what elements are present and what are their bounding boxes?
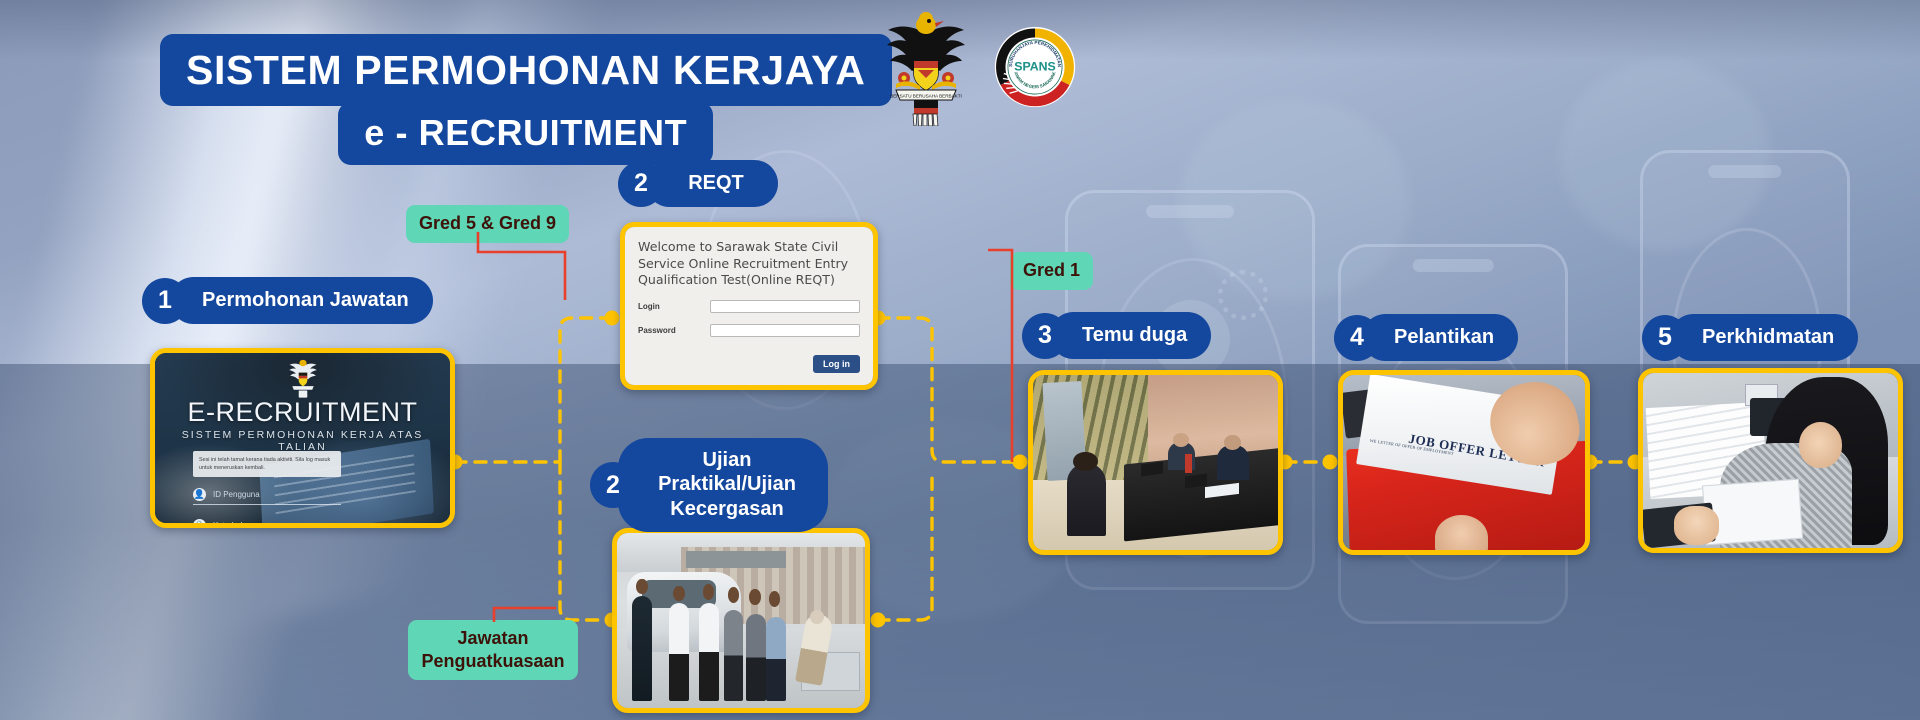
svg-text:SPANS: SPANS: [1014, 59, 1055, 73]
step-3-label: Temu duga: [1050, 312, 1211, 359]
step-3-temu-duga[interactable]: 3 Temu duga: [1022, 312, 1211, 359]
spans-logo: SURUHANJAYA PERKHIDMATAN AWAM NEGERI SAR…: [994, 26, 1076, 108]
step-2-label: REQT: [646, 160, 778, 207]
card-practical-test-photo[interactable]: [612, 528, 870, 713]
erecruitment-password-field[interactable]: 🔒 Kata Laluan: [193, 516, 341, 523]
practical-test-photo: [617, 533, 865, 708]
step-4-pelantikan[interactable]: 4 Pelantikan: [1334, 314, 1518, 361]
background-gear-icon: [1218, 270, 1268, 320]
page-title: SISTEM PERMOHONAN KERJAYA e - RECRUITMEN…: [160, 34, 892, 165]
step-5-number: 5: [1642, 315, 1688, 361]
step-5-perkhidmatan[interactable]: 5 Perkhidmatan: [1642, 314, 1858, 361]
card-service-photo[interactable]: [1638, 368, 1903, 553]
reqt-button-row: Log in: [638, 355, 860, 373]
tag-gred-1: Gred 1: [1010, 252, 1093, 290]
step-2b-number: 2: [590, 462, 636, 508]
offer-letter-photo: WE LETTER OF OFFER OF EMPLOYMENT JOB OFF…: [1343, 375, 1585, 550]
title-line-2: e - RECRUITMENT: [338, 102, 713, 165]
erecruitment-screen: E-RECRUITMENT SISTEM PERMOHONAN KERJA AT…: [155, 353, 450, 523]
reqt-welcome-text: Welcome to Sarawak State Civil Service O…: [638, 239, 860, 289]
erecruitment-password-placeholder: Kata Laluan: [213, 521, 256, 523]
step-1-number: 1: [142, 278, 188, 324]
reqt-login-label: Login: [638, 302, 710, 311]
erecruitment-subtitle: SISTEM PERMOHONAN KERJA ATAS TALIAN: [155, 429, 450, 453]
reqt-login-form: Welcome to Sarawak State Civil Service O…: [625, 227, 873, 385]
step-2-reqt[interactable]: 2 REQT: [618, 160, 778, 207]
card-reqt-login[interactable]: Welcome to Sarawak State Civil Service O…: [620, 222, 878, 390]
card-interview-photo[interactable]: [1028, 370, 1283, 555]
service-photo: [1643, 373, 1898, 548]
logo-group: BERSATU BERUSAHA BERBAKTI: [880, 8, 1076, 126]
tag-gred-5-9: Gred 5 & Gred 9: [406, 205, 569, 243]
title-line-1: SISTEM PERMOHONAN KERJAYA: [160, 34, 892, 106]
reqt-login-row: Login: [638, 300, 860, 313]
step-1-permohonan-jawatan[interactable]: 1 Permohonan Jawatan: [142, 277, 433, 324]
step-2-number: 2: [618, 161, 664, 207]
reqt-password-label: Password: [638, 326, 710, 335]
erecruitment-crest-icon: [283, 357, 323, 399]
erecruitment-session-notice: Sesi ini telah tamat kerana tiada aktivi…: [193, 451, 341, 477]
step-2b-label: Ujian Praktikal/Ujian Kecergasan: [618, 438, 828, 532]
user-icon: 👤: [193, 488, 206, 501]
step-4-label: Pelantikan: [1362, 314, 1518, 361]
card-offer-letter-photo[interactable]: WE LETTER OF OFFER OF EMPLOYMENT JOB OFF…: [1338, 370, 1590, 555]
reqt-password-row: Password: [638, 324, 860, 337]
step-2b-ujian-praktikal[interactable]: 2 Ujian Praktikal/Ujian Kecergasan: [590, 438, 828, 532]
step-4-number: 4: [1334, 315, 1380, 361]
erecruitment-username-placeholder: ID Pengguna: [213, 490, 260, 499]
reqt-login-input[interactable]: [710, 300, 860, 313]
lock-icon: 🔒: [193, 519, 206, 523]
step-5-label: Perkhidmatan: [1670, 314, 1858, 361]
step-1-label: Permohonan Jawatan: [170, 277, 433, 324]
tag-jawatan-penguatkuasaan: Jawatan Penguatkuasaan: [408, 620, 578, 680]
reqt-login-button[interactable]: Log in: [813, 355, 860, 373]
erecruitment-username-field[interactable]: 👤 ID Pengguna: [193, 485, 341, 505]
svg-text:BERSATU BERUSAHA BERBAKTI: BERSATU BERUSAHA BERBAKTI: [890, 94, 962, 99]
card-erecruitment-screen[interactable]: E-RECRUITMENT SISTEM PERMOHONAN KERJA AT…: [150, 348, 455, 528]
interview-photo: [1033, 375, 1278, 550]
step-3-number: 3: [1022, 313, 1068, 359]
infographic-canvas: SISTEM PERMOHONAN KERJAYA e - RECRUITMEN…: [0, 0, 1920, 720]
sarawak-coat-of-arms: BERSATU BERUSAHA BERBAKTI: [880, 8, 972, 126]
reqt-password-input[interactable]: [710, 324, 860, 337]
erecruitment-title: E-RECRUITMENT: [155, 397, 450, 428]
